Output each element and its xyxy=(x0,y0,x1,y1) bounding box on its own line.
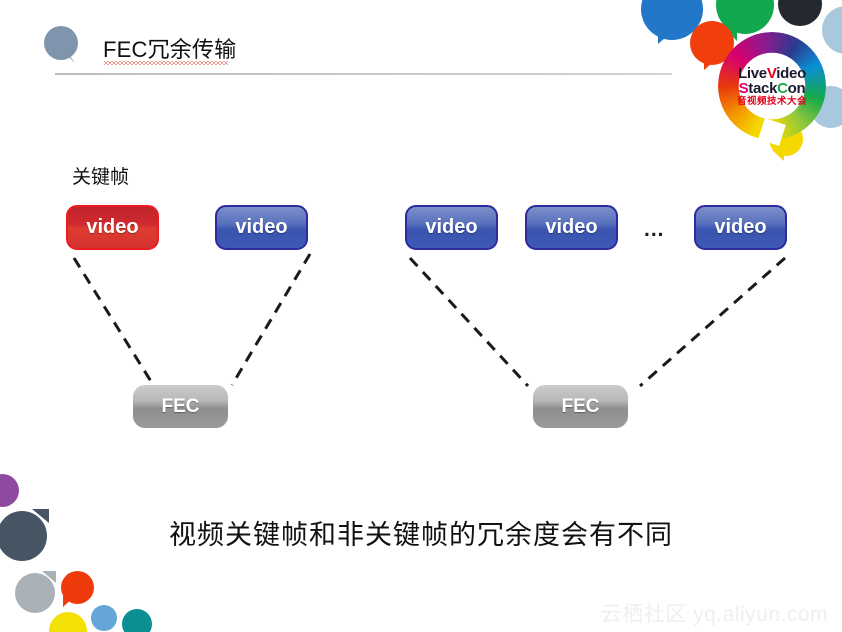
logo-s: S xyxy=(739,80,749,97)
keyframe-label: 关键帧 xyxy=(72,162,129,189)
fec-node-nonkeyframe[interactable]: FEC xyxy=(533,385,628,428)
logo-c: C xyxy=(777,80,788,97)
decorative-bubble-teal xyxy=(122,609,152,632)
logo-tack: tack xyxy=(748,80,777,97)
slide-caption: 视频关键帧和非关键帧的冗余度会有不同 xyxy=(0,513,842,552)
page-title: FEC冗余传输 xyxy=(103,32,236,64)
watermark: 云栖社区 yq.aliyun.com xyxy=(601,598,828,628)
video-node-nonkeyframe-2[interactable]: video xyxy=(525,205,618,250)
spellcheck-underline xyxy=(104,61,228,65)
video-node-keyframe[interactable]: video xyxy=(66,205,159,250)
speech-bubble-icon xyxy=(43,26,83,66)
logo-on: on xyxy=(788,80,806,97)
connector-nonkeyframe-right xyxy=(640,258,785,386)
decorative-bubble-skyblue xyxy=(91,605,117,631)
header-divider xyxy=(55,73,672,75)
decorative-bubble-gray-tail xyxy=(42,571,56,583)
decorative-bubble-orange-tail xyxy=(704,58,718,70)
video-node-nonkeyframe-1[interactable]: video xyxy=(405,205,498,250)
decorative-bubble-slate-tail xyxy=(32,509,49,523)
logo-subtitle-cn: 音视频技术大会 xyxy=(737,97,807,107)
conference-logo: LiveVideo StackCon 音视频技术大会 xyxy=(718,32,826,140)
decorative-bubble-yellow-tail xyxy=(772,150,784,161)
decorative-bubble-yellow2 xyxy=(49,612,87,632)
decorative-bubble-dark xyxy=(778,0,822,26)
ellipsis-marker: ... xyxy=(644,218,665,242)
decorative-bubble-purple xyxy=(0,474,19,507)
connector-keyframe-left xyxy=(74,258,152,383)
video-node-keyframe-2[interactable]: video xyxy=(215,205,308,250)
video-node-nonkeyframe-3[interactable]: video xyxy=(694,205,787,250)
connector-keyframe-right xyxy=(232,254,310,385)
connector-nonkeyframe-left xyxy=(410,258,528,386)
fec-node-keyframe[interactable]: FEC xyxy=(133,385,228,428)
decorative-bubble-blue-tail xyxy=(658,30,674,44)
decorative-bubble-red-tail xyxy=(63,596,75,607)
slide-canvas: LiveVideo StackCon 音视频技术大会 FEC冗余传输 关键帧 v… xyxy=(0,0,842,632)
logo-text: LiveVideo StackCon 音视频技术大会 xyxy=(737,66,807,107)
